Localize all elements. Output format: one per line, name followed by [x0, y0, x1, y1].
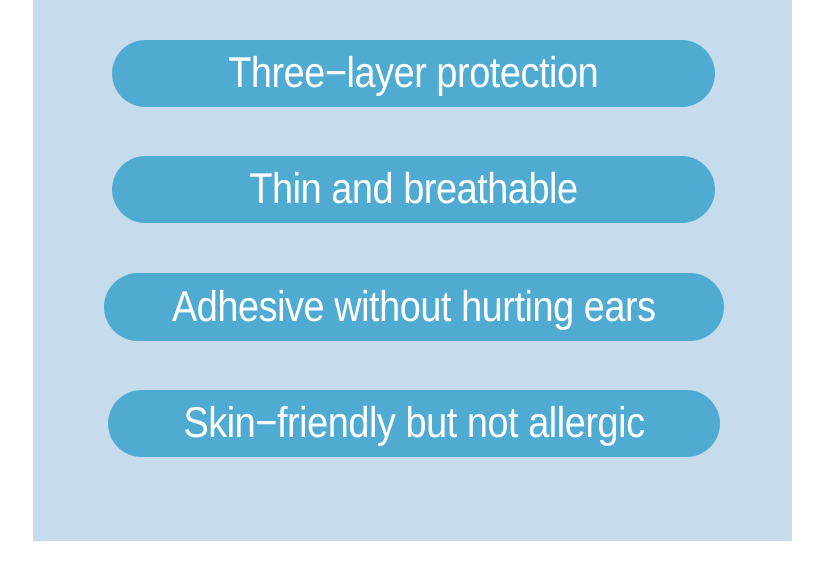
feature-panel: Three−layer protection Thin and breathab…: [33, 0, 792, 541]
feature-pill-thin-and-breathable[interactable]: Thin and breathable: [112, 156, 715, 223]
feature-pill-three-layer-protection[interactable]: Three−layer protection: [112, 40, 715, 107]
feature-pill-adhesive-without-hurting-ears[interactable]: Adhesive without hurting ears: [104, 273, 724, 341]
feature-pill-label: Skin−friendly but not allergic: [183, 402, 644, 445]
page-canvas: Three−layer protection Thin and breathab…: [0, 0, 828, 562]
feature-pill-label: Thin and breathable: [249, 168, 577, 211]
feature-pill-list: Three−layer protection Thin and breathab…: [33, 0, 792, 541]
feature-pill-label: Adhesive without hurting ears: [172, 286, 656, 329]
feature-pill-label: Three−layer protection: [229, 52, 599, 95]
feature-pill-skin-friendly-but-not-allergic[interactable]: Skin−friendly but not allergic: [108, 390, 720, 457]
